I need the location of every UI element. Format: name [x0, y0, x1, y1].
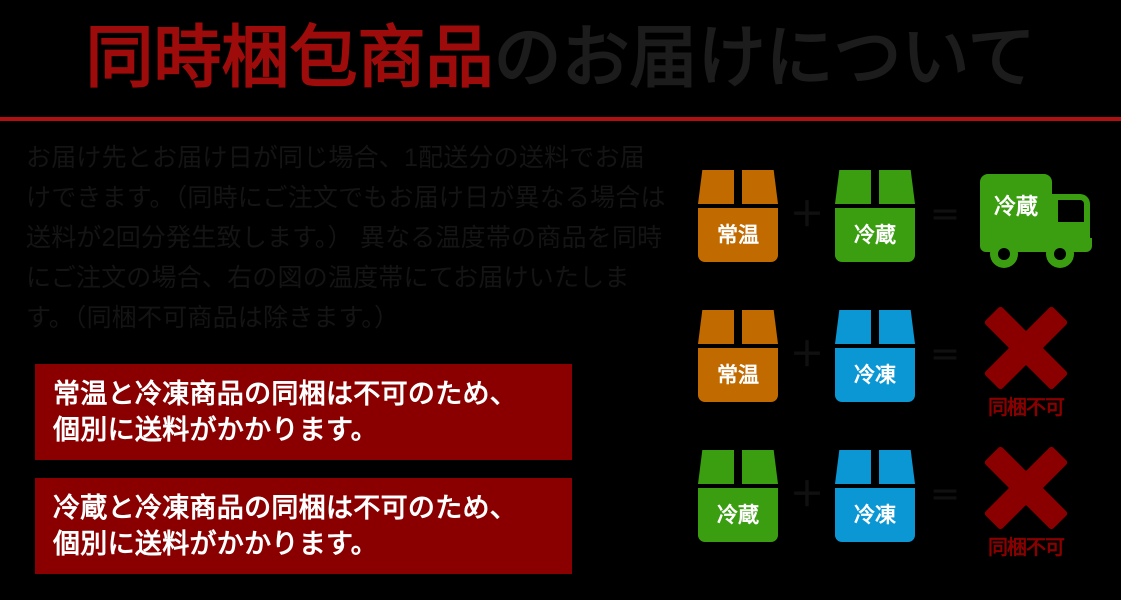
diagram-row-chilled-frozen: 冷蔵 ＋ 冷凍 ＝ 同梱不可	[672, 434, 1121, 574]
box-flap-left	[698, 310, 734, 344]
description-column: お届け先とお届け日が同じ場合、1配送分の送料でお届けできます。（同時にご注文でも…	[26, 138, 666, 338]
box-body: 常温	[698, 208, 778, 262]
truck-cargo-body: 冷蔵	[980, 174, 1052, 240]
box-lid	[835, 310, 915, 344]
box-body: 冷蔵	[835, 208, 915, 262]
notice-line-2: 個別に送料がかかります。	[53, 526, 572, 562]
packing-rules-diagram: 常温 ＋ 冷蔵 ＝ 冷蔵	[672, 136, 1121, 600]
plus-operator-icon: ＋	[790, 338, 824, 372]
page-header: 同時梱包商品のお届けについて	[0, 0, 1121, 119]
box-flap-left	[698, 170, 734, 204]
notice-line-1: 冷蔵と冷凍商品の同梱は不可のため、	[53, 490, 572, 526]
box-lid	[698, 170, 778, 204]
box-flap-right	[879, 170, 915, 204]
page-title: 同時梱包商品のお届けについて	[0, 16, 1121, 100]
box-flap-right	[742, 310, 778, 344]
package-box-icon: 常温	[698, 310, 778, 402]
notice-line-2: 個別に送料がかかります。	[53, 412, 572, 448]
box-flap-left	[698, 450, 734, 484]
box-body: 冷凍	[835, 488, 915, 542]
not-allowed-caption: 同梱不可	[964, 538, 1088, 558]
box-flap-left	[835, 170, 871, 204]
page-title-highlight: 同時梱包商品	[86, 20, 494, 96]
package-box-icon: 冷蔵	[835, 170, 915, 262]
diagram-row-ambient-chilled: 常温 ＋ 冷蔵 ＝ 冷蔵	[672, 154, 1121, 294]
box-body: 冷蔵	[698, 488, 778, 542]
equals-operator-icon: ＝	[930, 480, 960, 514]
box-flap-left	[835, 450, 871, 484]
truck-window	[1058, 200, 1084, 222]
package-box-icon: 冷凍	[835, 450, 915, 542]
notice-box-ambient-frozen: 常温と冷凍商品の同梱は不可のため、 個別に送料がかかります。	[35, 364, 572, 460]
box-label: 冷蔵	[854, 225, 896, 246]
box-lid	[698, 450, 778, 484]
box-lid	[835, 170, 915, 204]
equals-operator-icon: ＝	[930, 200, 960, 234]
box-flap-right	[879, 450, 915, 484]
plus-operator-icon: ＋	[790, 478, 824, 512]
box-lid	[835, 450, 915, 484]
box-label: 冷凍	[854, 365, 896, 386]
package-box-icon: 冷蔵	[698, 450, 778, 542]
box-flap-right	[742, 170, 778, 204]
equals-operator-icon: ＝	[930, 340, 960, 374]
box-lid	[698, 310, 778, 344]
truck-wheel-rear	[1046, 240, 1074, 268]
box-label: 常温	[717, 225, 759, 246]
truck-label: 冷蔵	[994, 196, 1038, 218]
diagram-row-ambient-frozen: 常温 ＋ 冷凍 ＝ 同梱不可	[672, 294, 1121, 434]
notice-line-1: 常温と冷凍商品の同梱は不可のため、	[53, 376, 572, 412]
box-body: 冷凍	[835, 348, 915, 402]
notice-box-chilled-frozen: 冷蔵と冷凍商品の同梱は不可のため、 個別に送料がかかります。	[35, 478, 572, 574]
page-title-rest: のお届けについて	[494, 20, 1036, 96]
box-label: 常温	[717, 365, 759, 386]
title-divider	[0, 117, 1121, 121]
delivery-truck-icon: 冷蔵	[976, 172, 1096, 272]
package-box-icon: 常温	[698, 170, 778, 262]
box-flap-left	[835, 310, 871, 344]
package-box-icon: 冷凍	[835, 310, 915, 402]
truck-wheel-front	[990, 240, 1018, 268]
not-allowed-x-icon	[978, 440, 1074, 536]
box-body: 常温	[698, 348, 778, 402]
not-allowed-caption: 同梱不可	[964, 398, 1088, 418]
box-label: 冷凍	[854, 505, 896, 526]
box-flap-right	[742, 450, 778, 484]
box-label: 冷蔵	[717, 505, 759, 526]
description-paragraph: お届け先とお届け日が同じ場合、1配送分の送料でお届けできます。（同時にご注文でも…	[26, 138, 666, 338]
box-flap-right	[879, 310, 915, 344]
not-allowed-x-icon	[978, 300, 1074, 396]
plus-operator-icon: ＋	[790, 198, 824, 232]
